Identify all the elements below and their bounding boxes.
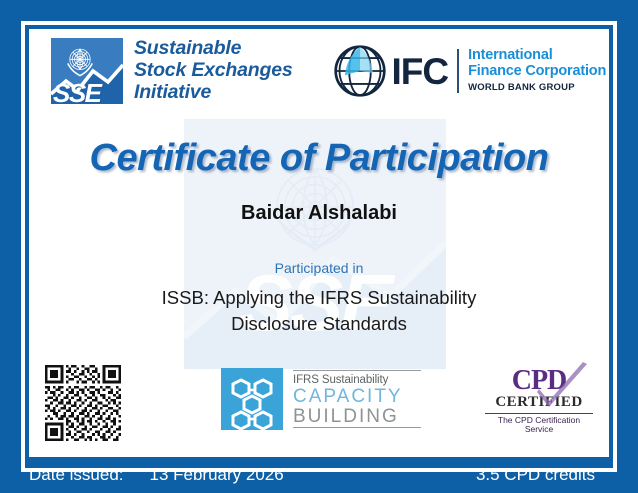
ifrs-capacity-label: CAPACITY: [293, 387, 421, 407]
cpd-underline: [485, 413, 593, 414]
certificate-content-area: SSE: [29, 29, 609, 457]
participation-label: Participated in: [29, 260, 609, 276]
course-title-line2: Disclosure Standards: [69, 311, 569, 337]
ifc-name-line2: Finance Corporation: [468, 64, 606, 80]
cpd-title: CPD: [512, 365, 567, 396]
date-issued-label: Date issued:: [29, 465, 124, 485]
sse-word-line2: Stock Exchanges: [134, 60, 293, 82]
sse-wordmark: Sustainable Stock Exchanges Initiative: [134, 38, 293, 103]
sse-word-line1: Sustainable: [134, 38, 293, 60]
certificate-header: SSE Sustainable Stock Exchanges Initiati…: [29, 29, 609, 113]
sse-logo: SSE Sustainable Stock Exchanges Initiati…: [51, 38, 293, 104]
ifrs-rule-top: [293, 370, 421, 371]
cpd-certified-label: CERTIFIED: [485, 394, 593, 411]
ifc-subtitle: WORLD BANK GROUP: [468, 83, 606, 93]
cpd-title-wrap: CPD: [485, 367, 593, 395]
certificate-document: SSE: [0, 0, 638, 493]
cpd-service-line2: Service: [485, 425, 593, 435]
course-title: ISSB: Applying the IFRS Sustainability D…: [69, 285, 569, 336]
certificate-badges: IFRS Sustainability CAPACITY BUILDING CP…: [29, 359, 609, 451]
ifrs-hexagon-icon: [221, 368, 283, 430]
ifc-wordmark: International Finance Corporation WORLD …: [468, 48, 606, 93]
sse-word-line3: Initiative: [134, 82, 293, 104]
ifc-name-line1: International: [468, 48, 606, 64]
ifc-letters: IFC: [392, 53, 449, 90]
date-issued-value: 13 February 2026: [150, 465, 284, 485]
ifrs-wordmark: IFRS Sustainability CAPACITY BUILDING: [293, 370, 421, 428]
ifc-logo: IFC International Finance Corporation WO…: [333, 44, 607, 98]
ifc-globe-icon: [333, 44, 387, 98]
ifrs-rule-bottom: [293, 427, 421, 428]
ifc-divider: [457, 49, 459, 93]
ifrs-capacity-building-logo: IFRS Sustainability CAPACITY BUILDING: [221, 368, 421, 430]
cpd-credits-value: 3.5 CPD credits: [476, 465, 595, 485]
ifrs-sustainability-label: IFRS Sustainability: [293, 374, 421, 386]
ifrs-building-label: BUILDING: [293, 407, 421, 427]
cpd-certified-logo: CPD CERTIFIED The CPD Certification Serv…: [485, 367, 593, 435]
sse-logo-mark: SSE: [51, 38, 123, 104]
page-title: Certificate of Participation: [29, 137, 609, 180]
sse-mark-text: SSE: [53, 78, 101, 104]
certificate-footer: Date issued: 13 February 2026 3.5 CPD cr…: [0, 457, 638, 493]
recipient-name: Baidar Alshalabi: [29, 202, 609, 225]
course-title-line1: ISSB: Applying the IFRS Sustainability: [69, 285, 569, 311]
qr-code-icon[interactable]: [45, 365, 121, 441]
